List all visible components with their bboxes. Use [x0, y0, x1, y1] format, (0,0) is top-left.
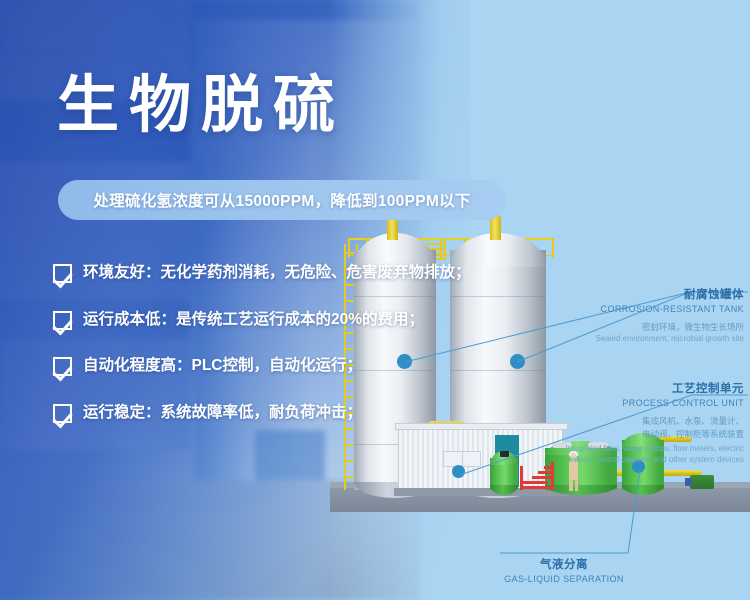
marker-dot-tank-b[interactable]	[510, 354, 525, 369]
callout-desc-en-line1: Integrated fans, water pumps, flow meter…	[494, 443, 744, 454]
callout-corrosion-resistant-tank: 耐腐蚀罐体 CORROSION-RESISTANT TANK 密封环境，微生物生…	[514, 286, 744, 344]
feature-text: 运行稳定：系统故障率低，耐负荷冲击；	[83, 402, 362, 424]
callout-desc-zh-line1: 集成风机、水泵、流量计、	[494, 415, 744, 427]
callout-title-en: PROCESS CONTROL UNIT	[494, 398, 744, 408]
callout-gas-liquid-separation: 气液分离 GAS-LIQUID SEPARATION	[500, 556, 628, 584]
callout-title-en: CORROSION-RESISTANT TANK	[514, 304, 744, 314]
list-item: 运行成本低：是传统工艺运行成本的20%的费用；	[53, 309, 473, 333]
list-item: 自动化程度高：PLC控制，自动化运行；	[53, 355, 473, 379]
marker-dot-control-cabin[interactable]	[452, 465, 465, 478]
subtitle-text: 处理硫化氢浓度可从15000PPM，降低到100PPM以下	[93, 189, 470, 211]
checkbox-checked-icon	[53, 357, 72, 376]
callout-title-zh: 耐腐蚀罐体	[514, 286, 744, 302]
list-item: 运行稳定：系统故障率低，耐负荷冲击；	[53, 402, 473, 426]
feature-list: 环境友好：无化学药剂消耗，无危险、危害废弃物排放； 运行成本低：是传统工艺运行成…	[53, 262, 473, 448]
callout-desc-zh: 密封环境，微生物生长场所	[514, 321, 744, 333]
access-stairs	[520, 462, 554, 490]
subtitle-pill: 处理硫化氢浓度可从15000PPM，降低到100PPM以下	[58, 180, 506, 220]
checkbox-checked-icon	[53, 264, 72, 283]
callout-title-zh: 工艺控制单元	[494, 380, 744, 396]
callout-desc-zh-line2: 电动阀、控制柜等系统装置	[494, 428, 744, 440]
callout-title-en: GAS-LIQUID SEPARATION	[500, 574, 628, 584]
feature-text: 自动化程度高：PLC控制，自动化运行；	[83, 355, 362, 377]
poster-canvas: 生物脱硫 处理硫化氢浓度可从15000PPM，降低到100PPM以下 环境友好：…	[0, 0, 750, 600]
pump-unit	[690, 475, 714, 489]
callout-process-control-unit: 工艺控制单元 PROCESS CONTROL UNIT 集成风机、水泵、流量计、…	[494, 380, 744, 465]
page-title: 生物脱硫	[57, 75, 345, 137]
checkbox-checked-icon	[53, 311, 72, 330]
list-item: 环境友好：无化学药剂消耗，无危险、危害废弃物排放；	[53, 262, 473, 286]
callout-title-zh: 气液分离	[500, 556, 628, 572]
callout-desc-en-line2: valves, control cabinets and other syste…	[494, 454, 744, 465]
checkbox-checked-icon	[53, 404, 72, 423]
callout-desc-en: Sealed environment, microbial growth sit…	[514, 333, 744, 344]
feature-text: 环境友好：无化学药剂消耗，无危险、危害废弃物排放；	[83, 262, 471, 284]
feature-text: 运行成本低：是传统工艺运行成本的20%的费用；	[83, 309, 424, 331]
